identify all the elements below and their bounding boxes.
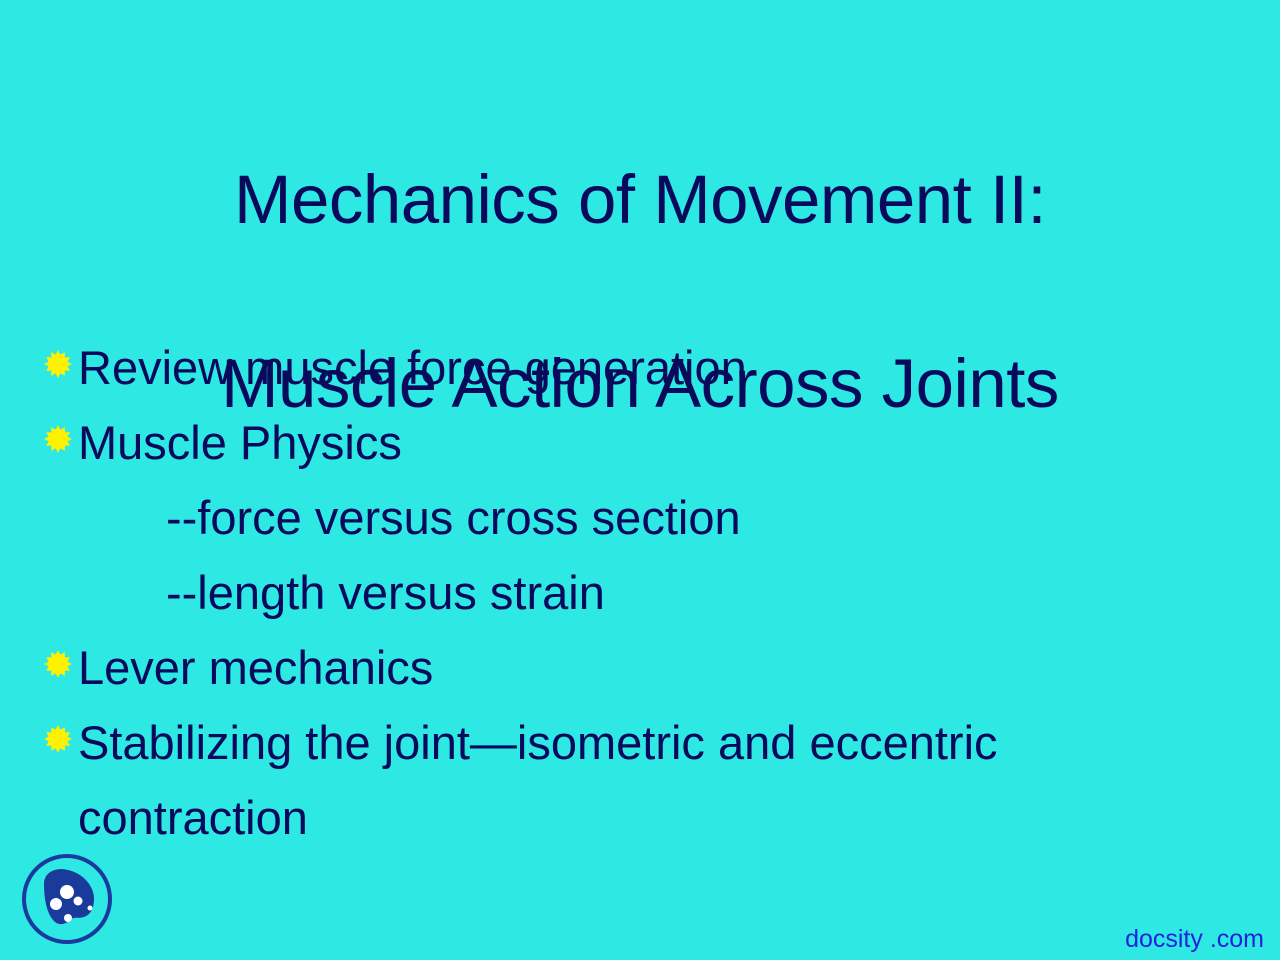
slide-body-bullets: Review muscle force generation Muscle Ph… [44, 330, 1264, 855]
bullet-text: Stabilizing the joint—isometric and ecce… [78, 705, 1264, 855]
bullet-item-review-muscle-force-generation: Review muscle force generation [44, 330, 1264, 405]
bullet-text: Review muscle force generation [78, 330, 1264, 405]
bullet-text: Muscle Physics [78, 405, 1264, 480]
bullet-text: Lever mechanics [78, 630, 1264, 705]
star-burst-bullet-icon [44, 330, 74, 405]
docsity-logo [20, 852, 114, 946]
bullet-item-lever-mechanics: Lever mechanics [44, 630, 1264, 705]
slide-title-line-1: Mechanics of Movement II: [0, 154, 1280, 246]
slide-canvas: Mechanics of Movement II: Muscle Action … [0, 0, 1280, 960]
sub-bullet-item-force-versus-cross-section: --force versus cross section [44, 480, 1264, 555]
star-burst-bullet-icon [44, 630, 74, 705]
bullet-item-muscle-physics: Muscle Physics [44, 405, 1264, 480]
bullet-item-stabilizing-the-joint: Stabilizing the joint—isometric and ecce… [44, 705, 1264, 855]
sub-bullet-text: --length versus strain [166, 555, 605, 630]
sub-bullet-item-length-versus-strain: --length versus strain [44, 555, 1264, 630]
star-burst-bullet-icon [44, 705, 74, 780]
docsity-watermark: docsity .com [1125, 924, 1264, 954]
sub-bullet-text: --force versus cross section [166, 480, 741, 555]
star-burst-bullet-icon [44, 405, 74, 480]
